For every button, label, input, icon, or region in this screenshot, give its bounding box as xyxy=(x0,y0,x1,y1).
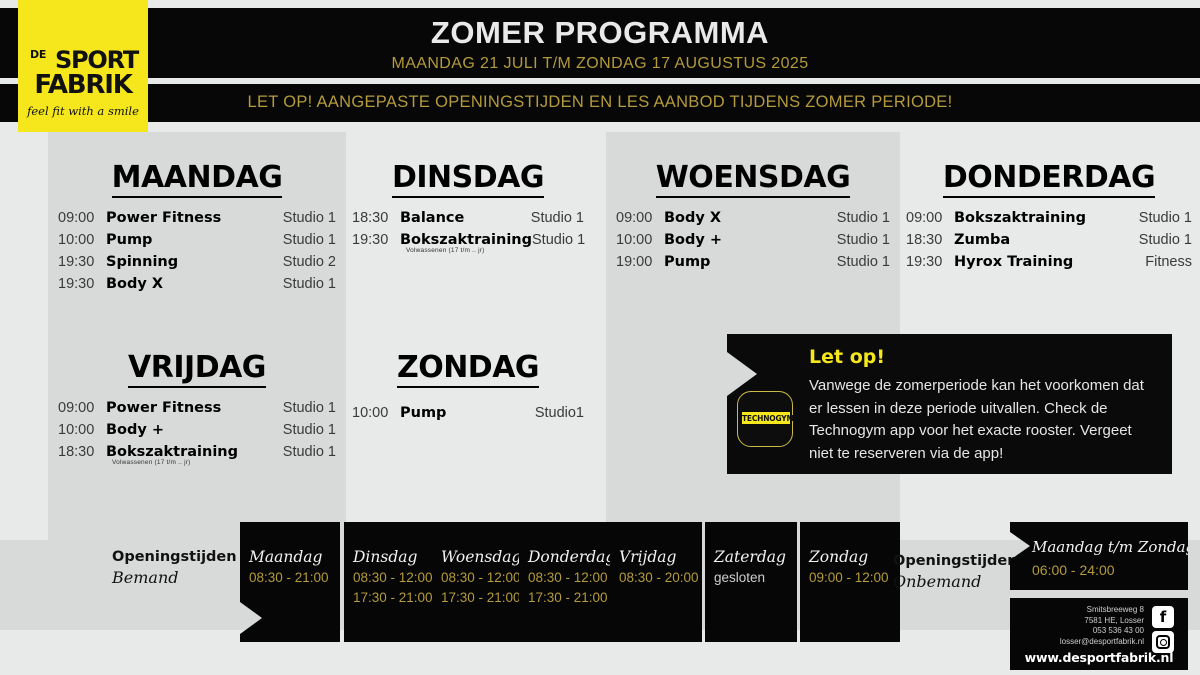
class-time: 19:30 xyxy=(58,273,106,295)
logo-line-fabrik: FABRIK xyxy=(18,70,148,100)
opening-day-hours2: 17:30 - 21:00 xyxy=(528,590,608,605)
class-name: Power Fitness xyxy=(106,207,283,229)
opening-day-name: Zondag xyxy=(809,548,868,566)
class-row: 19:30 Body X Studio 1 xyxy=(58,273,336,295)
opening-manned-label: Openingstijden xyxy=(112,549,237,565)
contact-phone[interactable]: 053 536 43 00 xyxy=(1016,626,1144,637)
class-time: 09:00 xyxy=(58,397,106,419)
page-title: ZOMER PROGRAMMA xyxy=(0,15,1200,51)
class-time: 10:00 xyxy=(352,402,400,424)
logo: DE SPORT FABRIK feel fit with a smile xyxy=(18,0,148,132)
class-row: 18:30 Zumba Studio 1 xyxy=(906,229,1192,251)
title-bar: ZOMER PROGRAMMA MAANDAG 21 JULI T/M ZOND… xyxy=(0,8,1200,78)
opening-day-hours1: 08:30 - 21:00 xyxy=(249,570,329,585)
contact-city: 7581 HE, Losser xyxy=(1016,616,1144,627)
attention-body: Vanwege de zomerperiode kan het voorkome… xyxy=(809,375,1159,465)
facebook-glyph: f xyxy=(1152,606,1174,628)
class-name: Bokszaktraining xyxy=(106,441,283,463)
class-name: Balance xyxy=(400,207,531,229)
class-time: 09:00 xyxy=(616,207,664,229)
opening-day-maandag: Maandag 08:30 - 21:00 xyxy=(240,522,340,642)
class-name: Pump xyxy=(664,251,837,273)
facebook-icon[interactable]: f xyxy=(1152,606,1174,628)
attention-box: Let op! Vanwege de zomerperiode kan het … xyxy=(727,334,1172,474)
class-list: 09:00 Body X Studio 1 10:00 Body + Studi… xyxy=(616,207,890,273)
opening-day-hours2: 17:30 - 21:00 xyxy=(353,590,433,605)
class-location: Studio1 xyxy=(535,402,584,424)
opening-day-closed: gesloten xyxy=(714,570,765,585)
contact-email[interactable]: losser@desportfabrik.nl xyxy=(1016,637,1144,648)
opening-unmanned-box: Maandag t/m Zondag 06:00 - 24:00 xyxy=(1010,522,1188,590)
class-name: Body X xyxy=(664,207,837,229)
class-row: 19:30 Bokszaktraining Studio 1 xyxy=(352,229,584,251)
opening-day-hours1: 08:30 - 20:00 xyxy=(619,570,699,585)
class-time: 19:30 xyxy=(352,229,400,251)
class-location: Fitness xyxy=(1145,251,1192,273)
class-name: Body X xyxy=(106,273,283,295)
class-list: 09:00 Power Fitness Studio 1 10:00 Pump … xyxy=(58,207,336,295)
opening-day-name: Vrijdag xyxy=(619,548,676,566)
class-time: 19:30 xyxy=(58,251,106,273)
class-row: 09:00 Power Fitness Studio 1 xyxy=(58,207,336,229)
opening-day-name: Donderdag xyxy=(528,548,615,566)
poster-root: ZOMER PROGRAMMA MAANDAG 21 JULI T/M ZOND… xyxy=(0,0,1200,675)
instagram-icon[interactable] xyxy=(1152,631,1174,653)
class-location: Studio 1 xyxy=(837,207,890,229)
class-list: 18:30 Balance Studio 1 19:30 Bokszaktrai… xyxy=(352,207,584,254)
class-location: Studio 1 xyxy=(532,229,585,251)
day-title: DONDERDAG xyxy=(943,160,1155,198)
opening-unmanned-day: Maandag t/m Zondag xyxy=(1032,538,1195,556)
class-time: 10:00 xyxy=(616,229,664,251)
contact-lines: Smitsbreeweg 8 7581 HE, Losser 053 536 4… xyxy=(1016,605,1144,647)
class-location: Studio 1 xyxy=(283,419,336,441)
class-time: 10:00 xyxy=(58,229,106,251)
technogym-logo: TECHNOGYM xyxy=(737,391,793,447)
class-time: 18:30 xyxy=(906,229,954,251)
class-time: 09:00 xyxy=(906,207,954,229)
day-title: WOENSDAG xyxy=(656,160,851,198)
technogym-label: TECHNOGYM xyxy=(742,412,790,424)
opening-unmanned-label: Openingstijden xyxy=(893,553,1018,569)
opening-day-hours1: 08:30 - 12:00 xyxy=(353,570,433,585)
opening-unmanned-sub: Onbemand xyxy=(893,572,981,591)
day-title: VRIJDAG xyxy=(128,350,266,388)
class-row: 10:00 Pump Studio1 xyxy=(352,402,584,424)
class-name: Body + xyxy=(664,229,837,251)
class-name: Bokszaktraining xyxy=(400,229,532,251)
logo-tagline: feel fit with a smile xyxy=(18,104,148,118)
class-row: 10:00 Body + Studio 1 xyxy=(616,229,890,251)
page-subtitle: MAANDAG 21 JULI T/M ZONDAG 17 AUGUSTUS 2… xyxy=(0,55,1200,73)
class-location: Studio 1 xyxy=(283,207,336,229)
class-time: 19:00 xyxy=(616,251,664,273)
day-column-vrijdag: VRIJDAG 09:00 Power Fitness Studio 1 10:… xyxy=(58,350,336,466)
class-list: 09:00 Bokszaktraining Studio 1 18:30 Zum… xyxy=(906,207,1192,273)
day-column-dinsdag: DINSDAG 18:30 Balance Studio 1 19:30 Bok… xyxy=(352,160,584,254)
opening-day-hours2: 17:30 - 21:00 xyxy=(441,590,521,605)
opening-day-name: Maandag xyxy=(249,548,322,566)
class-row: 18:30 Balance Studio 1 xyxy=(352,207,584,229)
notice-bar: LET OP! AANGEPASTE OPENINGSTIJDEN EN LES… xyxy=(0,84,1200,122)
day-column-woensdag: WOENSDAG 09:00 Body X Studio 1 10:00 Bod… xyxy=(616,160,890,273)
opening-day-dinsdag: Dinsdag 08:30 - 12:00 17:30 - 21:00 xyxy=(344,522,444,642)
class-location: Studio 2 xyxy=(283,251,336,273)
opening-day-name: Woensdag xyxy=(441,548,521,566)
class-row: 10:00 Body + Studio 1 xyxy=(58,419,336,441)
class-name: Body + xyxy=(106,419,283,441)
opening-day-hours1: 08:30 - 12:00 xyxy=(441,570,521,585)
contact-street: Smitsbreeweg 8 xyxy=(1016,605,1144,616)
class-row: 18:30 Bokszaktraining Studio 1 xyxy=(58,441,336,463)
day-column-zondag: ZONDAG 10:00 Pump Studio1 xyxy=(352,350,584,424)
contact-box: Smitsbreeweg 8 7581 HE, Losser 053 536 4… xyxy=(1010,598,1188,670)
opening-unmanned-hours: 06:00 - 24:00 xyxy=(1032,562,1115,578)
class-location: Studio 1 xyxy=(1139,229,1192,251)
class-list: 10:00 Pump Studio1 xyxy=(352,402,584,424)
class-row: 09:00 Power Fitness Studio 1 xyxy=(58,397,336,419)
class-list: 09:00 Power Fitness Studio 1 10:00 Body … xyxy=(58,397,336,466)
opening-day-vrijdag: Vrijdag 08:30 - 20:00 xyxy=(610,522,702,642)
opening-day-hours1: 09:00 - 12:00 xyxy=(809,570,889,585)
opening-day-hours1: 08:30 - 12:00 xyxy=(528,570,608,585)
class-row: 09:00 Body X Studio 1 xyxy=(616,207,890,229)
class-row: 09:00 Bokszaktraining Studio 1 xyxy=(906,207,1192,229)
class-time: 09:00 xyxy=(58,207,106,229)
class-location: Studio 1 xyxy=(283,273,336,295)
opening-day-name: Dinsdag xyxy=(353,548,417,566)
class-location: Studio 1 xyxy=(837,229,890,251)
opening-day-name: Zaterdag xyxy=(714,548,786,566)
class-name: Power Fitness xyxy=(106,397,283,419)
class-location: Studio 1 xyxy=(837,251,890,273)
opening-manned-sub: Bemand xyxy=(112,568,178,587)
instagram-lens xyxy=(1160,639,1167,646)
class-location: Studio 1 xyxy=(283,441,336,463)
day-title: MAANDAG xyxy=(112,160,283,198)
day-column-donderdag: DONDERDAG 09:00 Bokszaktraining Studio 1… xyxy=(906,160,1192,273)
class-time: 18:30 xyxy=(352,207,400,229)
opening-day-zaterdag: Zaterdag gesloten xyxy=(705,522,797,642)
class-name: Spinning xyxy=(106,251,283,273)
notice-text: LET OP! AANGEPASTE OPENINGSTIJDEN EN LES… xyxy=(0,93,1200,112)
class-location: Studio 1 xyxy=(1139,207,1192,229)
class-row: 10:00 Pump Studio 1 xyxy=(58,229,336,251)
day-column-maandag: MAANDAG 09:00 Power Fitness Studio 1 10:… xyxy=(58,160,336,295)
class-location: Studio 1 xyxy=(283,229,336,251)
class-time: 19:30 xyxy=(906,251,954,273)
class-row: 19:00 Pump Studio 1 xyxy=(616,251,890,273)
class-location: Studio 1 xyxy=(531,207,584,229)
class-row: 19:30 Spinning Studio 2 xyxy=(58,251,336,273)
day-title: DINSDAG xyxy=(392,160,544,198)
class-time: 10:00 xyxy=(58,419,106,441)
class-name: Zumba xyxy=(954,229,1139,251)
class-location: Studio 1 xyxy=(283,397,336,419)
class-row: 19:30 Hyrox Training Fitness xyxy=(906,251,1192,273)
class-name: Pump xyxy=(400,402,535,424)
opening-day-zondag: Zondag 09:00 - 12:00 xyxy=(800,522,900,642)
class-name: Hyrox Training xyxy=(954,251,1145,273)
attention-heading: Let op! xyxy=(809,346,885,368)
class-name: Bokszaktraining xyxy=(954,207,1139,229)
class-name: Pump xyxy=(106,229,283,251)
class-time: 18:30 xyxy=(58,441,106,463)
day-title: ZONDAG xyxy=(397,350,539,388)
